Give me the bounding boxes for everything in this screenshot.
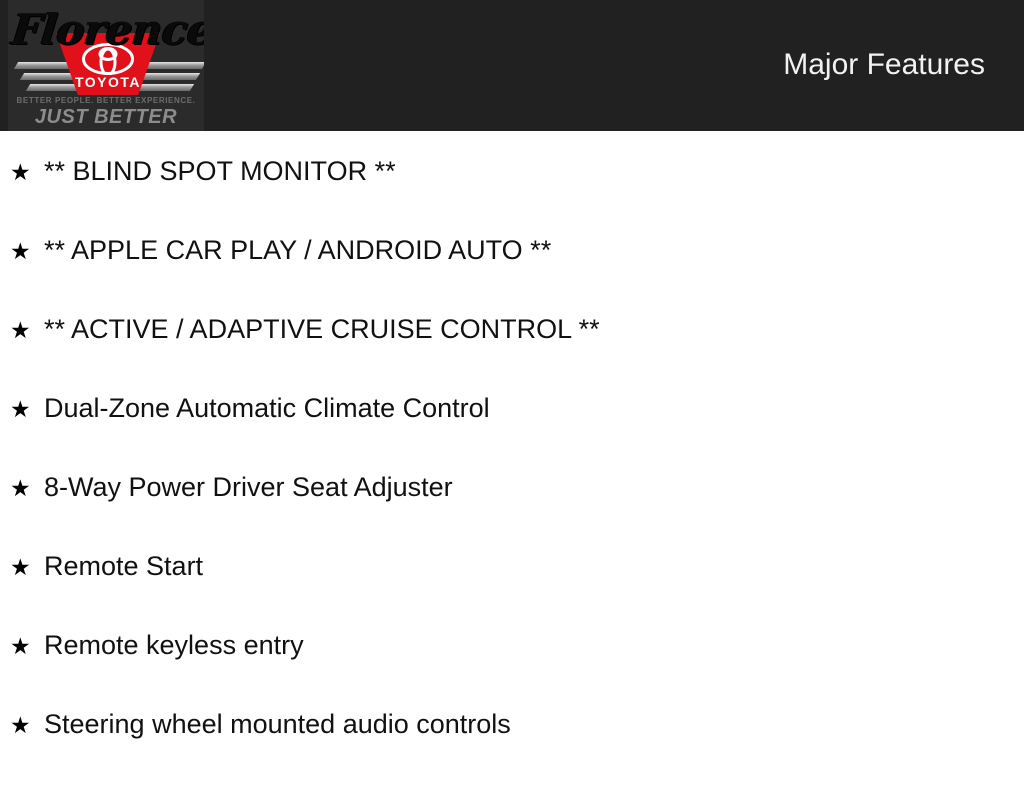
star-icon: ★ (10, 710, 44, 740)
star-icon: ★ (10, 315, 44, 345)
toyota-wordmark: TOYOTA (56, 74, 160, 90)
page-header: TOYOTA Florence BETTER PEOPLE. BETTER EX… (0, 0, 1024, 131)
list-item: ★ Remote Start (0, 551, 1024, 630)
list-item: ★ ** ACTIVE / ADAPTIVE CRUISE CONTROL ** (0, 314, 1024, 393)
list-item: ★ 8-Way Power Driver Seat Adjuster (0, 472, 1024, 551)
feature-label: ** ACTIVE / ADAPTIVE CRUISE CONTROL ** (44, 314, 1024, 344)
list-item: ★ Remote keyless entry (0, 630, 1024, 709)
dealer-logo[interactable]: TOYOTA Florence BETTER PEOPLE. BETTER EX… (8, 0, 204, 131)
star-icon: ★ (10, 236, 44, 266)
dealer-name-script: Florence (9, 4, 204, 56)
logo-slogan: JUST BETTER (8, 106, 204, 129)
list-item: ★ ** BLIND SPOT MONITOR ** (0, 131, 1024, 235)
list-item: ★ Steering wheel mounted audio controls (0, 709, 1024, 788)
major-features-list: ★ ** BLIND SPOT MONITOR ** ★ ** APPLE CA… (0, 131, 1024, 788)
list-item: ★ ** APPLE CAR PLAY / ANDROID AUTO ** (0, 235, 1024, 314)
feature-label: Steering wheel mounted audio controls (44, 709, 1024, 739)
star-icon: ★ (10, 473, 44, 503)
feature-label: Dual-Zone Automatic Climate Control (44, 393, 1024, 423)
feature-label: Remote Start (44, 551, 1024, 581)
star-icon: ★ (10, 394, 44, 424)
star-icon: ★ (10, 552, 44, 582)
logo-tagline: BETTER PEOPLE. BETTER EXPERIENCE. (8, 96, 204, 105)
feature-label: Remote keyless entry (44, 630, 1024, 660)
list-item: ★ Dual-Zone Automatic Climate Control (0, 393, 1024, 472)
page-title: Major Features (783, 48, 985, 82)
feature-label: 8-Way Power Driver Seat Adjuster (44, 472, 1024, 502)
feature-label: ** BLIND SPOT MONITOR ** (44, 156, 1024, 186)
star-icon: ★ (10, 631, 44, 661)
star-icon: ★ (10, 157, 44, 187)
feature-label: ** APPLE CAR PLAY / ANDROID AUTO ** (44, 235, 1024, 265)
